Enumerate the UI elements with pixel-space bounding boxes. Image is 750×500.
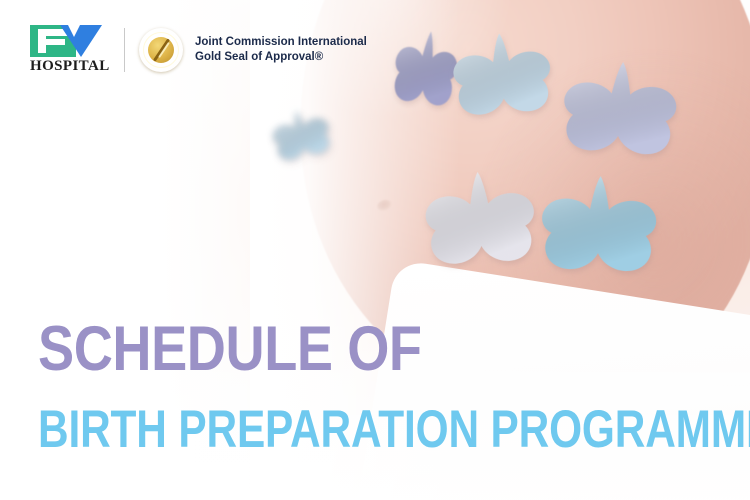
fv-letter-v (60, 25, 102, 57)
butterfly-paleblue-top-shape (449, 27, 555, 122)
promo-banner: HOSPITAL Joint Commission International … (0, 0, 750, 500)
header-logos: HOSPITAL Joint Commission International … (30, 25, 367, 75)
jci-text-line-2: Gold Seal of Approval® (195, 50, 367, 65)
headline-line-1: SCHEDULE OF (38, 318, 750, 380)
butterfly-white-center-shape (421, 165, 538, 271)
logo-divider (124, 28, 125, 72)
fv-letter-v-notch (68, 25, 80, 37)
jci-gold-seal-icon (139, 28, 183, 72)
fv-hospital-logo: HOSPITAL (30, 25, 102, 75)
fv-wordmark: HOSPITAL (30, 58, 110, 75)
jci-text-line-1: Joint Commission International (195, 35, 367, 50)
butterfly-white-center (421, 165, 538, 271)
butterfly-blue-lower-right-shape (538, 170, 660, 278)
jci-accreditation-text: Joint Commission International Gold Seal… (195, 35, 367, 65)
butterfly-lavender-right-shape (559, 54, 682, 162)
butterfly-blue-lower-right (538, 170, 660, 278)
headline-block: SCHEDULE OF BIRTH PREPARATION PROGRAMME (38, 318, 750, 458)
fv-monogram-icon (30, 25, 102, 57)
butterfly-paleblue-top (449, 27, 555, 122)
butterfly-lavender-right (559, 54, 682, 162)
headline-line-2: BIRTH PREPARATION PROGRAMME (38, 402, 750, 458)
